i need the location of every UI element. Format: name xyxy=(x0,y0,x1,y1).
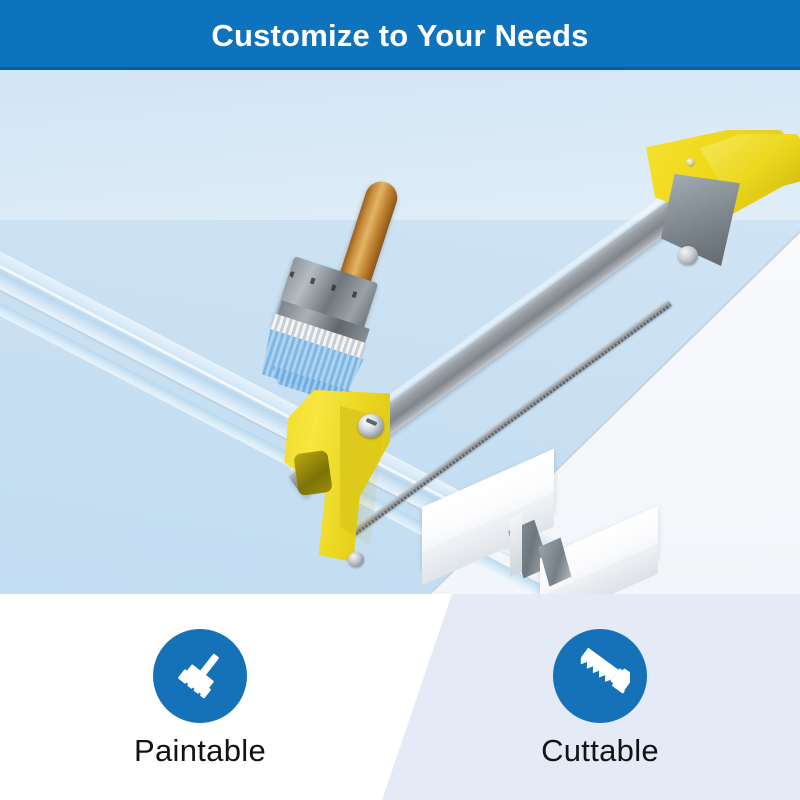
page-title: Customize to Your Needs xyxy=(211,20,588,51)
product-photo xyxy=(0,70,800,594)
feature-row: Paintable Cuttable xyxy=(0,594,800,800)
paint-brush xyxy=(0,70,800,594)
feature-label-paintable: Paintable xyxy=(134,735,266,766)
feature-item-cuttable[interactable]: Cuttable xyxy=(400,594,800,800)
feature-label-cuttable: Cuttable xyxy=(541,735,659,766)
hand-saw-icon xyxy=(570,646,630,706)
product-infographic: Customize to Your Needs xyxy=(0,0,800,800)
feature-item-paintable[interactable]: Paintable xyxy=(0,594,400,800)
cable-raceway-left-edge-lip xyxy=(510,513,522,576)
paintable-icon-circle xyxy=(153,629,247,723)
cuttable-icon-circle xyxy=(553,629,647,723)
paint-brush-icon xyxy=(171,647,229,705)
header-banner: Customize to Your Needs xyxy=(0,0,800,70)
